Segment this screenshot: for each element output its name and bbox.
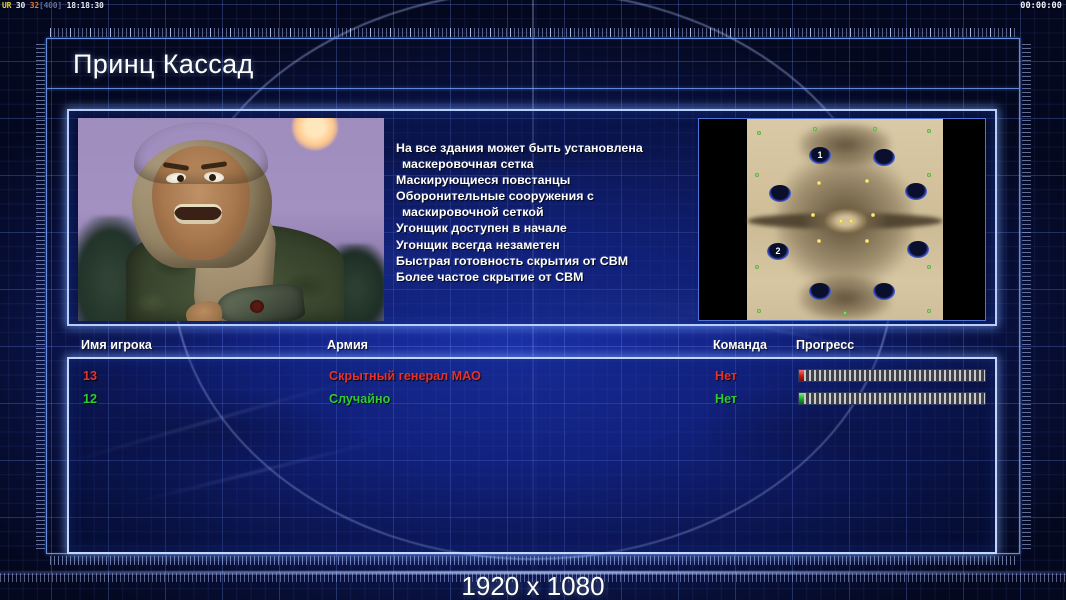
ability-line: Более частое скрытие от СВМ: [396, 269, 706, 285]
portrait-pupil-left: [177, 175, 184, 182]
hud-value-1: 30: [16, 1, 25, 10]
map-objective-dot: [839, 219, 843, 223]
map-resource-dot: [927, 265, 931, 269]
map-objective-dot: [871, 213, 875, 217]
table-row[interactable]: 13Скрытный генерал МАОНет: [69, 365, 995, 387]
map-spawn-marker: [905, 183, 927, 200]
map-spawn-marker: [907, 241, 929, 258]
player-list-panel: 13Скрытный генерал МАОНет12СлучайноНет: [67, 357, 997, 554]
hud-value-3: [400]: [39, 1, 62, 10]
map-objective-dot: [865, 179, 869, 183]
ability-line: Быстрая готовность скрытия от СВМ: [396, 253, 706, 269]
cell-team: Нет: [715, 388, 737, 410]
map-resource-dot: [927, 173, 931, 177]
ruler-left: [36, 44, 45, 550]
map-objective-dot: [849, 219, 853, 223]
map-spawn-marker: 1: [809, 147, 831, 164]
table-row[interactable]: 12СлучайноНет: [69, 388, 995, 410]
resolution-label: 1920 x 1080: [0, 571, 1066, 600]
map-objective-dot: [817, 181, 821, 185]
title-divider: [47, 88, 1019, 89]
ability-line: Оборонительные сооружения с: [396, 188, 706, 204]
ruler-top: [50, 28, 1018, 37]
column-header-team: Команда: [713, 338, 767, 352]
map-objective-dot: [865, 239, 869, 243]
map-resource-dot: [927, 309, 931, 313]
map-resource-dot: [813, 127, 817, 131]
map-terrain: 12: [747, 119, 943, 321]
map-spawn-marker: [873, 283, 895, 300]
map-resource-dot: [755, 173, 759, 177]
ability-line: На все здания может быть установлена: [396, 140, 706, 156]
progress-bar: [798, 369, 986, 382]
portrait-mouth: [174, 204, 222, 224]
map-spawn-marker: 2: [767, 243, 789, 260]
hud-debug-overlay: UR 30 32[400] 18:18:30: [2, 1, 104, 11]
ability-line: маскировочной сеткой: [396, 204, 706, 220]
cell-player-name: 12: [83, 388, 97, 410]
map-resource-dot: [873, 127, 877, 131]
map-center-feature: [825, 209, 867, 233]
column-header-player-name: Имя игрока: [81, 338, 152, 352]
ruler-right: [1022, 44, 1031, 550]
portrait-pupil-right: [209, 174, 216, 181]
hud-value-2: 32: [30, 1, 39, 10]
map-spawn-marker: [809, 283, 831, 300]
progress-bar-fill: [804, 393, 985, 404]
ability-line: Маскирующиеся повстанцы: [396, 172, 706, 188]
ability-line: Угонщик доступен в начале: [396, 220, 706, 236]
map-preview: 12: [698, 118, 986, 321]
map-resource-dot: [757, 309, 761, 313]
ability-line: Угонщик всегда незаметен: [396, 237, 706, 253]
column-header-army: Армия: [327, 338, 368, 352]
progress-bar: [798, 392, 986, 405]
map-objective-dot: [817, 239, 821, 243]
cell-player-name: 13: [83, 365, 97, 387]
page-title: Принц Кассад: [73, 49, 254, 80]
map-spawn-marker: [873, 149, 895, 166]
hud-time: 18:18:30: [67, 1, 104, 10]
hud-label: UR: [2, 1, 11, 10]
map-spawn-marker: [769, 185, 791, 202]
cell-army: Случайно: [329, 388, 390, 410]
map-resource-dot: [843, 311, 847, 315]
ability-line: маскеровочная сетка: [396, 156, 706, 172]
hud-timer: 00:00:00: [1020, 1, 1062, 11]
player-table-header-row: Имя игрока Армия Команда Прогресс: [67, 338, 997, 356]
portrait-weapon-muzzle: [250, 300, 264, 313]
map-resource-dot: [927, 129, 931, 133]
column-header-progress: Прогресс: [796, 338, 854, 352]
map-resource-dot: [757, 131, 761, 135]
general-portrait: [78, 118, 384, 321]
ruler-bottom: [50, 556, 1018, 565]
general-info-panel: На все здания может быть установленамаск…: [67, 109, 997, 326]
map-objective-dot: [811, 213, 815, 217]
map-resource-dot: [755, 265, 759, 269]
ability-description-list: На все здания может быть установленамаск…: [396, 140, 706, 285]
cell-army: Скрытный генерал МАО: [329, 365, 481, 387]
progress-bar-fill: [804, 370, 985, 381]
cell-team: Нет: [715, 365, 737, 387]
